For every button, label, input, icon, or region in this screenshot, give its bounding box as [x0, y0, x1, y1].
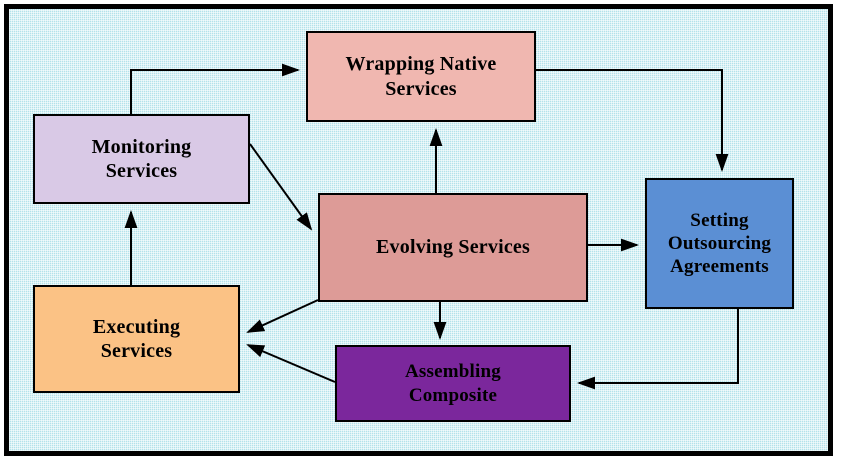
- node-label-wrapping-native-services: Wrapping Native Services: [308, 52, 534, 101]
- node-setting-outsourcing-agreements[interactable]: Setting Outsourcing Agreements: [645, 178, 794, 309]
- node-label-assembling-composite: Assembling Composite: [337, 360, 569, 406]
- diagram-canvas: Wrapping Native Services Monitoring Serv…: [0, 0, 843, 466]
- node-wrapping-native-services[interactable]: Wrapping Native Services: [306, 31, 536, 122]
- node-assembling-composite[interactable]: Assembling Composite: [335, 345, 571, 422]
- node-label-setting-outsourcing-agreements: Setting Outsourcing Agreements: [647, 209, 792, 279]
- node-label-evolving-services: Evolving Services: [320, 235, 586, 259]
- node-monitoring-services[interactable]: Monitoring Services: [33, 114, 250, 204]
- node-label-executing-services: Executing Services: [35, 315, 238, 364]
- node-label-monitoring-services: Monitoring Services: [35, 135, 248, 184]
- node-evolving-services[interactable]: Evolving Services: [318, 193, 588, 302]
- node-executing-services[interactable]: Executing Services: [33, 285, 240, 393]
